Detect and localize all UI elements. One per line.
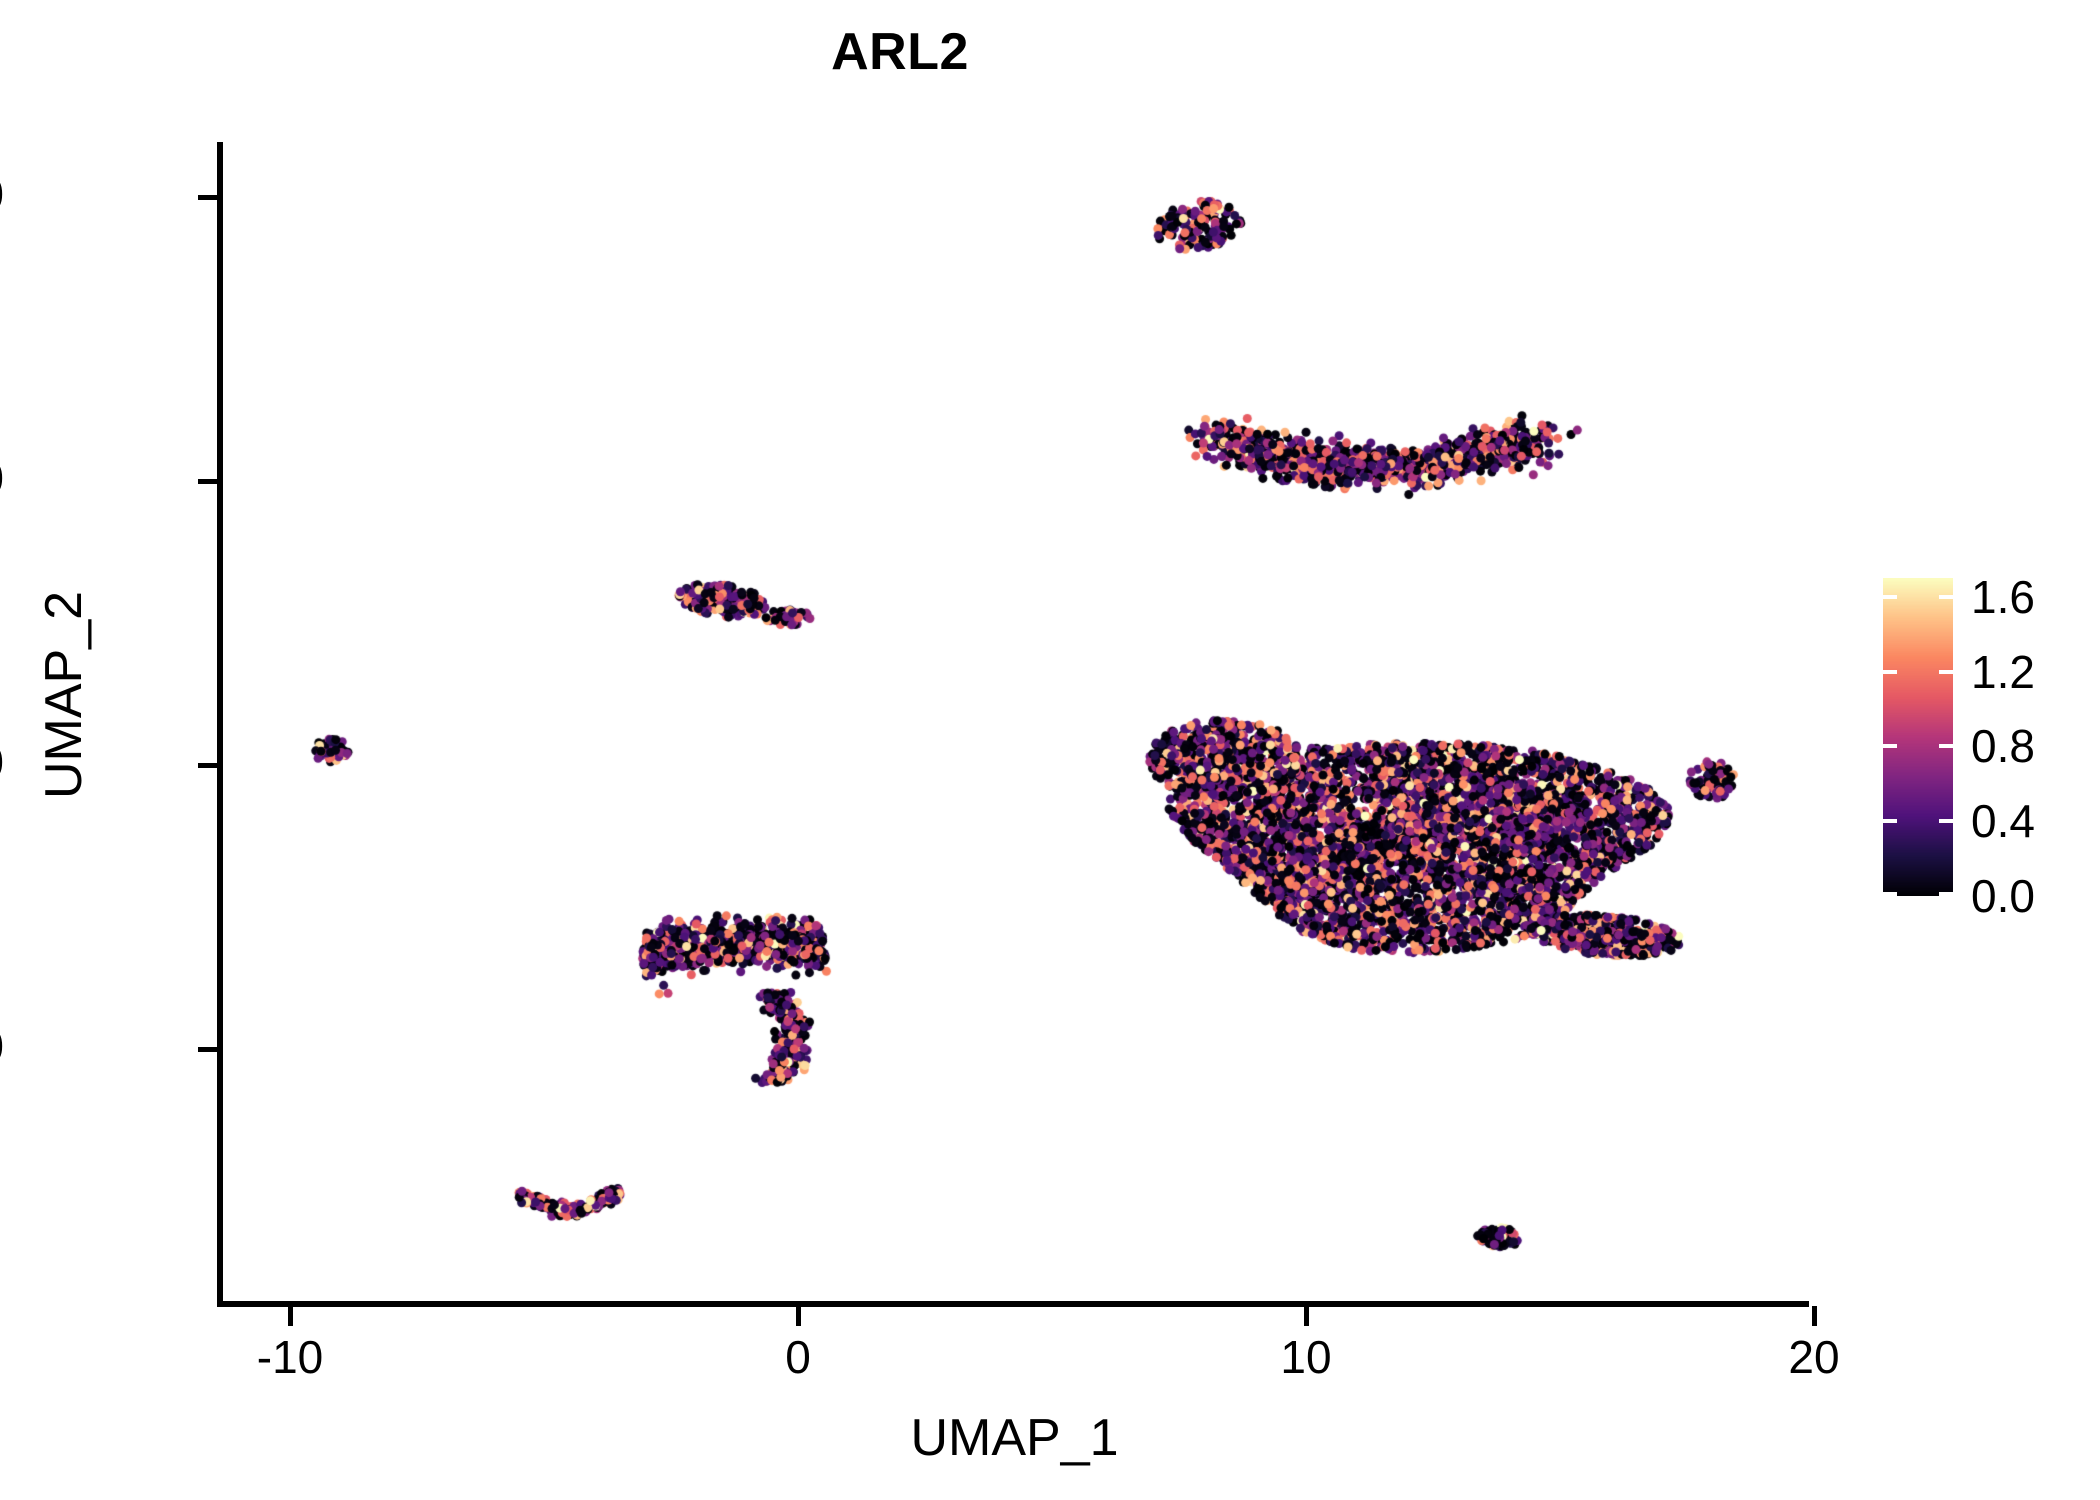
x-tick-label: 10 xyxy=(1206,1330,1406,1384)
x-tick-label: 20 xyxy=(1714,1330,1914,1384)
x-tick-label: -10 xyxy=(190,1330,390,1384)
x-tick-mark xyxy=(288,1306,293,1326)
umap-feature-plot: ARL2 -1001020 -1001020 UMAP_1 UMAP_2 0.0… xyxy=(0,0,2100,1500)
colorbar-gradient xyxy=(1883,578,1953,896)
y-axis-line xyxy=(217,142,223,1307)
y-axis-title: UMAP_2 xyxy=(34,591,94,799)
colorbar-tick-mark xyxy=(1883,595,1953,599)
y-tick-label: 10 xyxy=(0,451,4,505)
scatter-points-layer xyxy=(222,142,1807,1303)
y-tick-mark xyxy=(198,1047,218,1052)
colorbar-tick-mark xyxy=(1883,819,1953,823)
plot-panel xyxy=(222,142,1807,1303)
colorbar-tick-label: 0.4 xyxy=(1971,794,2100,848)
colorbar-tick-mark xyxy=(1883,670,1953,674)
x-axis-line xyxy=(217,1301,1809,1307)
y-axis-title-wrapper: UMAP_2 xyxy=(29,95,99,1295)
colorbar-tick-label: 0.8 xyxy=(1971,719,2100,773)
x-axis-title: UMAP_1 xyxy=(222,1408,1807,1468)
y-tick-mark xyxy=(198,195,218,200)
x-tick-mark xyxy=(796,1306,801,1326)
colorbar-legend: 0.00.40.81.21.6 xyxy=(1883,578,2093,908)
colorbar-tick-mark xyxy=(1883,892,1953,896)
y-tick-label: 0 xyxy=(0,735,4,789)
colorbar-tick-label: 0.0 xyxy=(1971,869,2100,923)
y-tick-mark xyxy=(198,763,218,768)
page-title: ARL2 xyxy=(0,22,1800,82)
colorbar-tick-label: 1.2 xyxy=(1971,645,2100,699)
x-tick-mark xyxy=(1812,1306,1817,1326)
colorbar-tick-mark xyxy=(1883,744,1953,748)
y-tick-mark xyxy=(198,479,218,484)
colorbar-tick-label: 1.6 xyxy=(1971,570,2100,624)
x-tick-label: 0 xyxy=(698,1330,898,1384)
y-tick-label: -10 xyxy=(0,1019,4,1073)
x-tick-mark xyxy=(1304,1306,1309,1326)
y-tick-label: 20 xyxy=(0,167,4,221)
